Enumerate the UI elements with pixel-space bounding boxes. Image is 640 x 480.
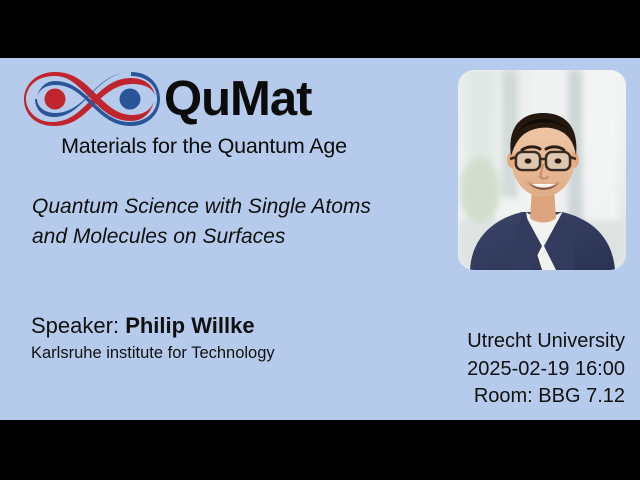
- speaker-affiliation: Karlsruhe institute for Technology: [31, 344, 411, 364]
- qumat-infinity-logo-icon: [24, 70, 160, 128]
- event-datetime: 2025-02-19 16:00: [467, 356, 625, 384]
- letterbox-top: [0, 0, 640, 58]
- event-room: Room: BBG 7.12: [467, 383, 625, 411]
- speaker-name: Philip Willke: [125, 313, 254, 338]
- qumat-tagline: Materials for the Quantum Age: [24, 136, 384, 158]
- speaker-label: Speaker:: [31, 313, 119, 338]
- logo-blue-dot: [120, 89, 141, 110]
- logo-row: QuMat: [24, 68, 384, 130]
- event-venue: Utrecht University: [467, 328, 625, 356]
- speaker-block: Speaker: Philip Willke Karlsruhe institu…: [31, 313, 411, 364]
- talk-title-line-2: and Molecules on Surfaces: [32, 222, 432, 252]
- seminar-announcement-slide: QuMat Materials for the Quantum Age Quan…: [0, 58, 640, 420]
- letterbox-bottom: [0, 420, 640, 480]
- talk-title: Quantum Science with Single Atoms and Mo…: [32, 192, 432, 252]
- speaker-portrait: [458, 70, 626, 270]
- speaker-line: Speaker: Philip Willke: [31, 313, 411, 339]
- speaker-portrait-image: [458, 70, 626, 270]
- logo-red-dot: [45, 89, 66, 110]
- qumat-logo-block: QuMat Materials for the Quantum Age: [24, 68, 384, 158]
- event-details: Utrecht University 2025-02-19 16:00 Room…: [467, 328, 625, 411]
- talk-title-line-1: Quantum Science with Single Atoms: [32, 192, 432, 222]
- qumat-wordmark: QuMat: [164, 75, 311, 124]
- slide-screen: QuMat Materials for the Quantum Age Quan…: [0, 0, 640, 480]
